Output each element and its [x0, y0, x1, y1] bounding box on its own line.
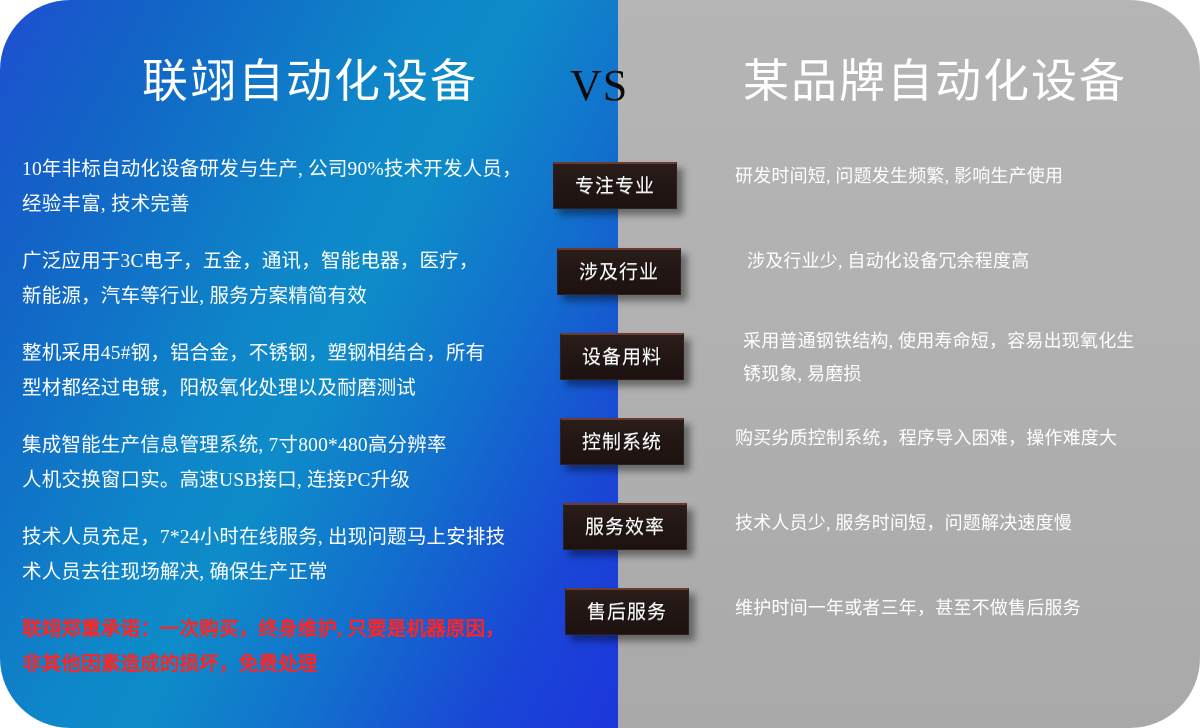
- left-advantage-block: 集成智能生产信息管理系统, 7寸800*480高分辨率人机交换窗口实。高速USB…: [22, 428, 534, 498]
- left-advantage-line: 技术人员充足，7*24小时在线服务, 出现问题马上安排技: [22, 520, 534, 555]
- left-advantage-line: 非其他因素造成的损坏，免费处理: [22, 647, 534, 682]
- left-advantage-line: 术人员去往现场解决, 确保生产正常: [22, 555, 534, 590]
- category-chip-1[interactable]: 专注专业: [553, 162, 677, 209]
- category-chip-4[interactable]: 控制系统: [560, 418, 684, 465]
- left-advantage-block: 整机采用45#钢，铝合金，不锈钢，塑钢相结合，所有型材都经过电镀，阳极氧化处理以…: [22, 336, 534, 406]
- left-advantage-line: 联翊郑重承诺：一次购买，终身维护, 只要是机器原因，: [22, 612, 534, 647]
- right-drawback-line: 维护时间一年或者三年，甚至不做售后服务: [735, 592, 1081, 625]
- left-advantage-line: 广泛应用于3C电子，五金，通讯，智能电器，医疗，: [22, 244, 534, 279]
- left-advantages-list: 10年非标自动化设备研发与生产, 公司90%技术开发人员，经验丰富, 技术完善广…: [22, 152, 534, 704]
- right-drawback-block: 购买劣质控制系统，程序导入困难，操作难度大: [735, 422, 1117, 455]
- left-advantage-line: 新能源，汽车等行业, 服务方案精简有效: [22, 279, 534, 314]
- right-drawback-line: 锈现象, 易磨损: [743, 358, 1135, 391]
- left-advantage-block: 广泛应用于3C电子，五金，通讯，智能电器，医疗，新能源，汽车等行业, 服务方案精…: [22, 244, 534, 314]
- page-title-left: 联翊自动化设备: [60, 52, 560, 112]
- comparison-poster: 联翊自动化设备 VS 某品牌自动化设备 10年非标自动化设备研发与生产, 公司9…: [0, 0, 1200, 728]
- right-drawback-block: 采用普通钢铁结构, 使用寿命短，容易出现氧化生锈现象, 易磨损: [743, 325, 1135, 391]
- page-title-right: 某品牌自动化设备: [690, 52, 1180, 112]
- category-chip-5[interactable]: 服务效率: [563, 503, 687, 550]
- category-chip-2[interactable]: 涉及行业: [557, 248, 681, 295]
- right-drawback-block: 技术人员少, 服务时间短，问题解决速度慢: [735, 507, 1072, 540]
- left-advantage-line: 人机交换窗口实。高速USB接口, 连接PC升级: [22, 463, 534, 498]
- right-drawback-block: 研发时间短, 问题发生频繁, 影响生产使用: [735, 160, 1063, 193]
- left-advantage-line: 10年非标自动化设备研发与生产, 公司90%技术开发人员，: [22, 152, 534, 187]
- poster-rounded-clip: 联翊自动化设备 VS 某品牌自动化设备 10年非标自动化设备研发与生产, 公司9…: [0, 0, 1200, 728]
- category-chip-6[interactable]: 售后服务: [565, 588, 689, 635]
- right-drawback-line: 涉及行业少, 自动化设备冗余程度高: [747, 245, 1029, 278]
- left-advantage-block: 10年非标自动化设备研发与生产, 公司90%技术开发人员，经验丰富, 技术完善: [22, 152, 534, 222]
- left-advantage-line: 集成智能生产信息管理系统, 7寸800*480高分辨率: [22, 428, 534, 463]
- vs-separator-label: VS: [570, 56, 670, 116]
- left-advantage-line: 型材都经过电镀，阳极氧化处理以及耐磨测试: [22, 371, 534, 406]
- right-drawback-line: 技术人员少, 服务时间短，问题解决速度慢: [735, 507, 1072, 540]
- left-advantage-line: 经验丰富, 技术完善: [22, 187, 534, 222]
- left-advantage-block: 技术人员充足，7*24小时在线服务, 出现问题马上安排技术人员去往现场解决, 确…: [22, 520, 534, 590]
- right-drawback-block: 维护时间一年或者三年，甚至不做售后服务: [735, 592, 1081, 625]
- left-advantage-block: 联翊郑重承诺：一次购买，终身维护, 只要是机器原因，非其他因素造成的损坏，免费处…: [22, 612, 534, 682]
- right-drawback-block: 涉及行业少, 自动化设备冗余程度高: [747, 245, 1029, 278]
- left-advantage-line: 整机采用45#钢，铝合金，不锈钢，塑钢相结合，所有: [22, 336, 534, 371]
- right-drawback-line: 研发时间短, 问题发生频繁, 影响生产使用: [735, 160, 1063, 193]
- right-drawback-line: 购买劣质控制系统，程序导入困难，操作难度大: [735, 422, 1117, 455]
- right-drawback-line: 采用普通钢铁结构, 使用寿命短，容易出现氧化生: [743, 325, 1135, 358]
- category-chip-3[interactable]: 设备用料: [560, 333, 684, 380]
